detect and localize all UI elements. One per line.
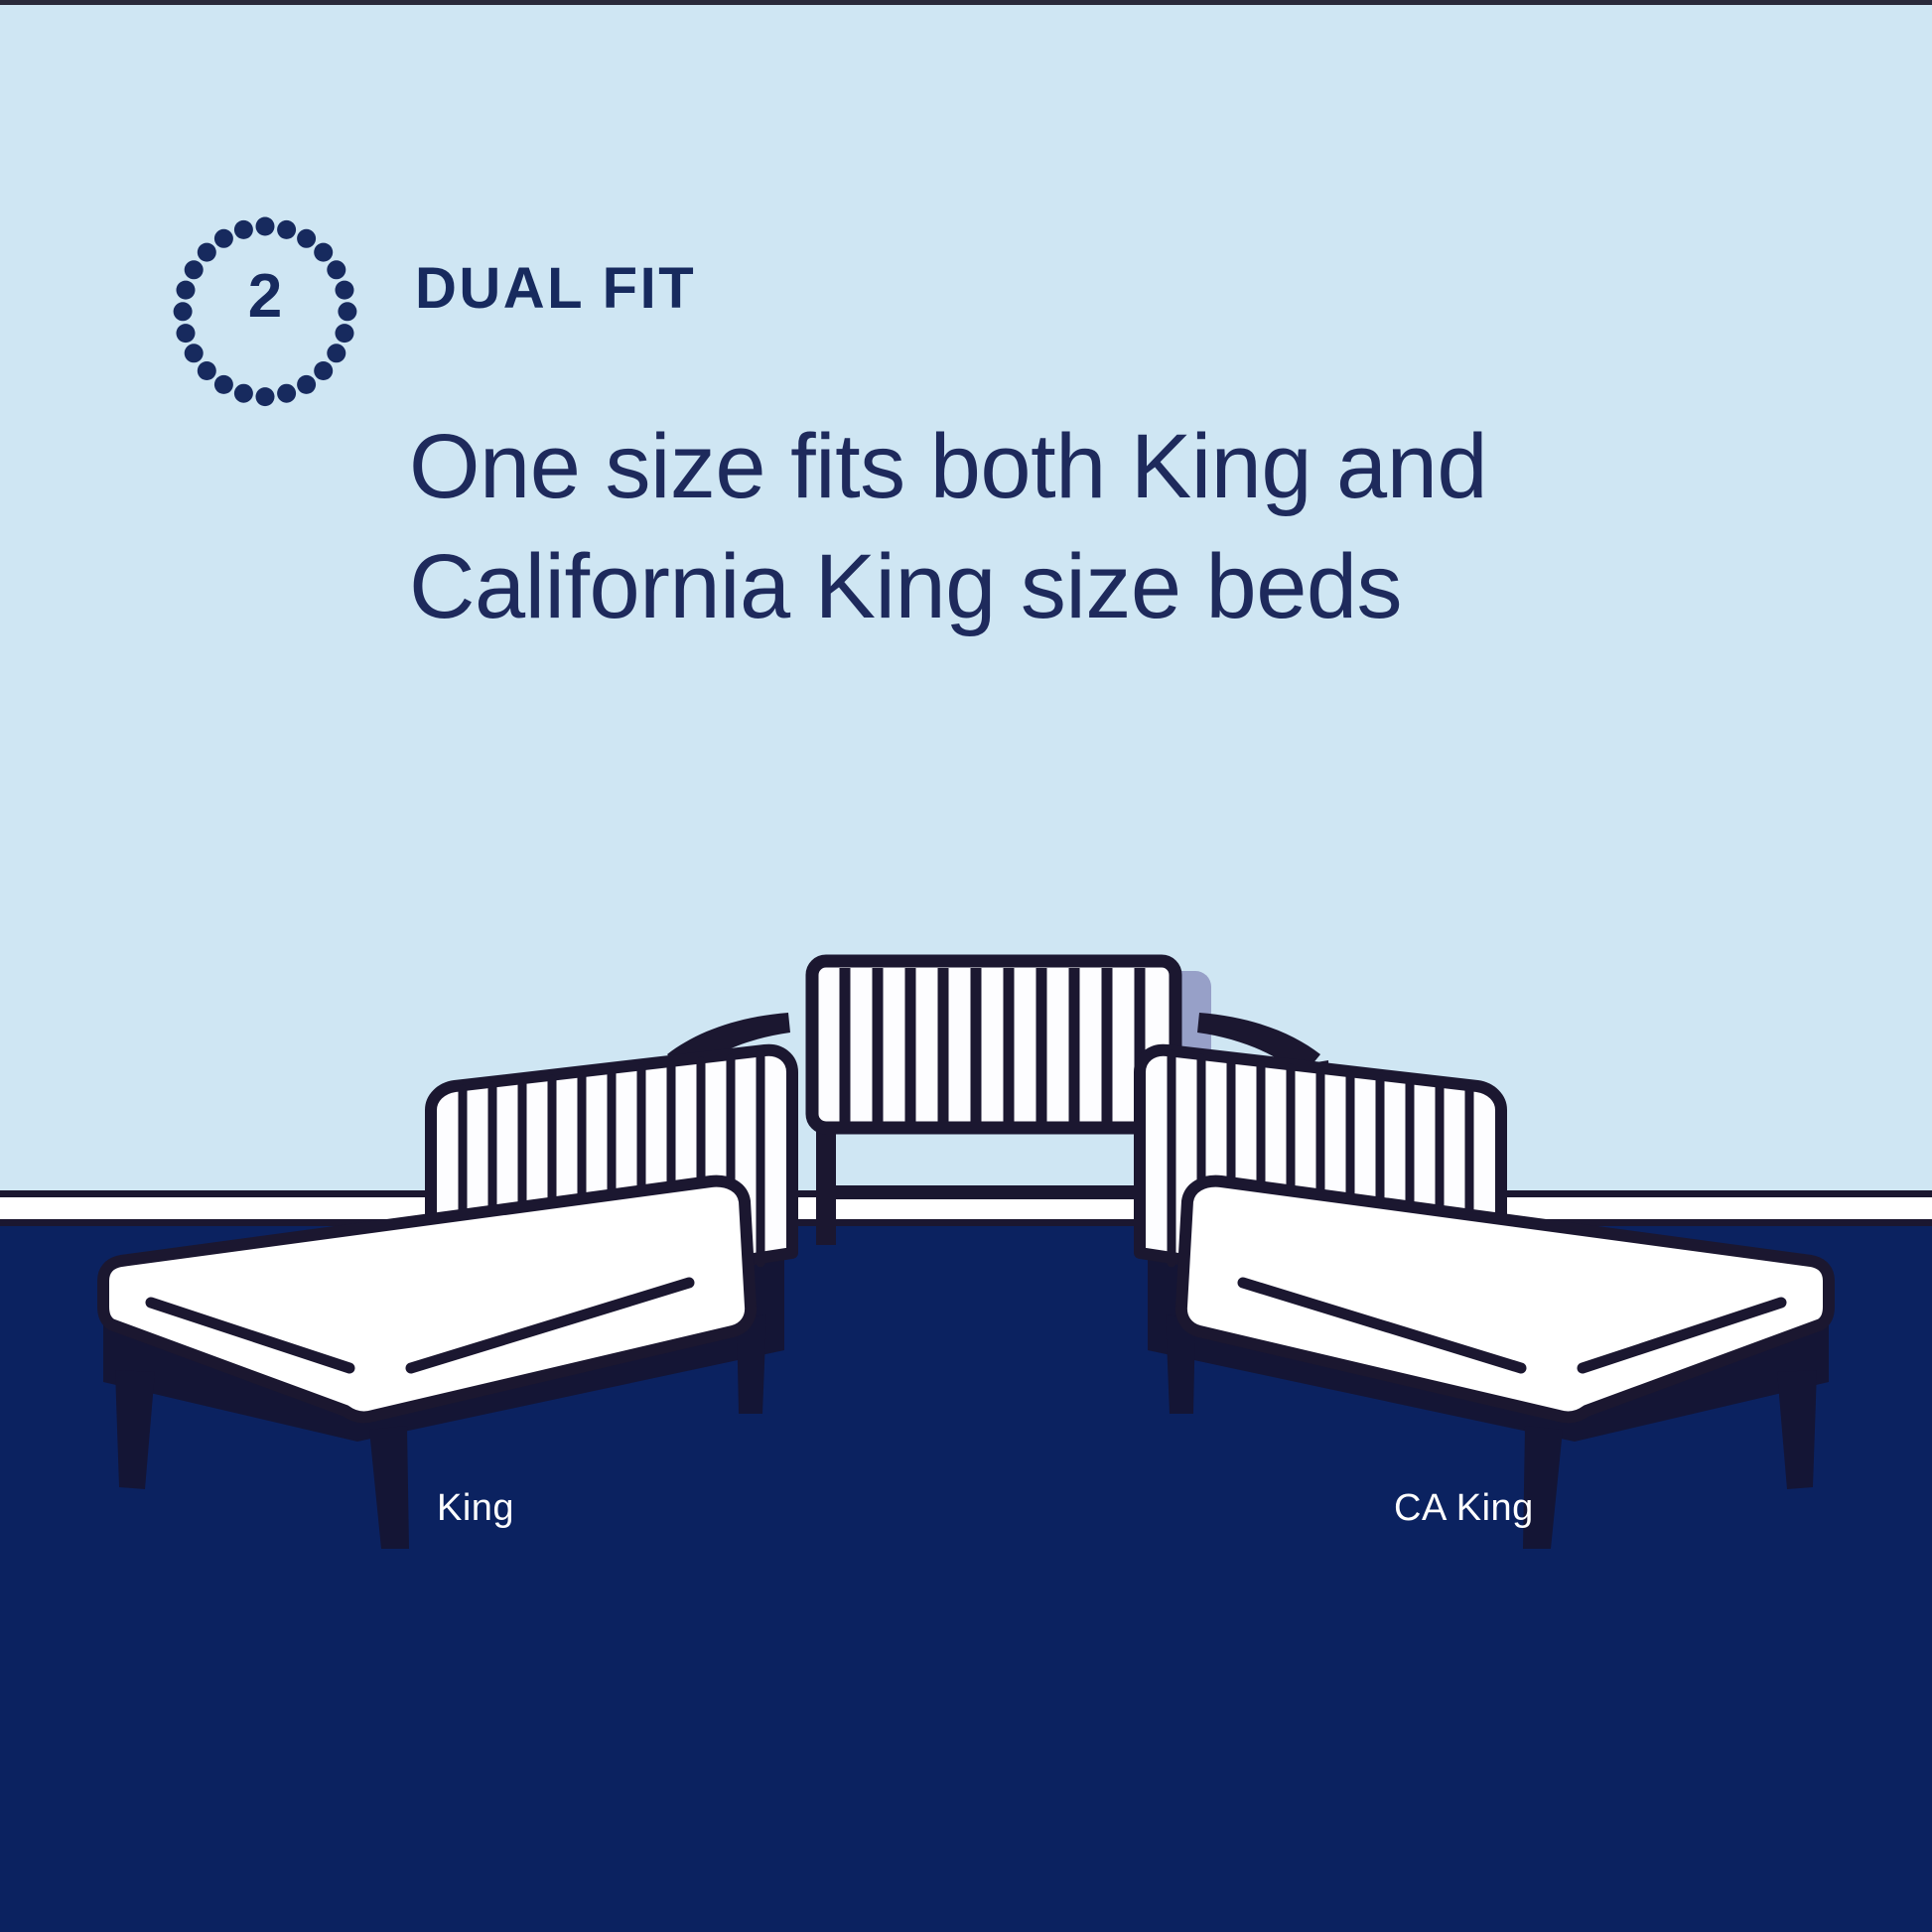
bed-caption-king: King bbox=[437, 1489, 514, 1527]
bed-caption-ca-king: CA King bbox=[1394, 1489, 1534, 1527]
text-overlay: 2 DUAL FIT One size fits both King and C… bbox=[0, 0, 1932, 1932]
headline-line-1: One size fits both King and bbox=[409, 407, 1729, 527]
step-badge-number: 2 bbox=[195, 226, 336, 367]
step-badge: 2 bbox=[195, 226, 336, 367]
infographic-slide: 2 DUAL FIT One size fits both King and C… bbox=[0, 0, 1932, 1932]
page-title: One size fits both King and California K… bbox=[409, 407, 1729, 648]
headline-line-2: California King size beds bbox=[409, 527, 1729, 647]
eyebrow-label: DUAL FIT bbox=[415, 260, 696, 318]
